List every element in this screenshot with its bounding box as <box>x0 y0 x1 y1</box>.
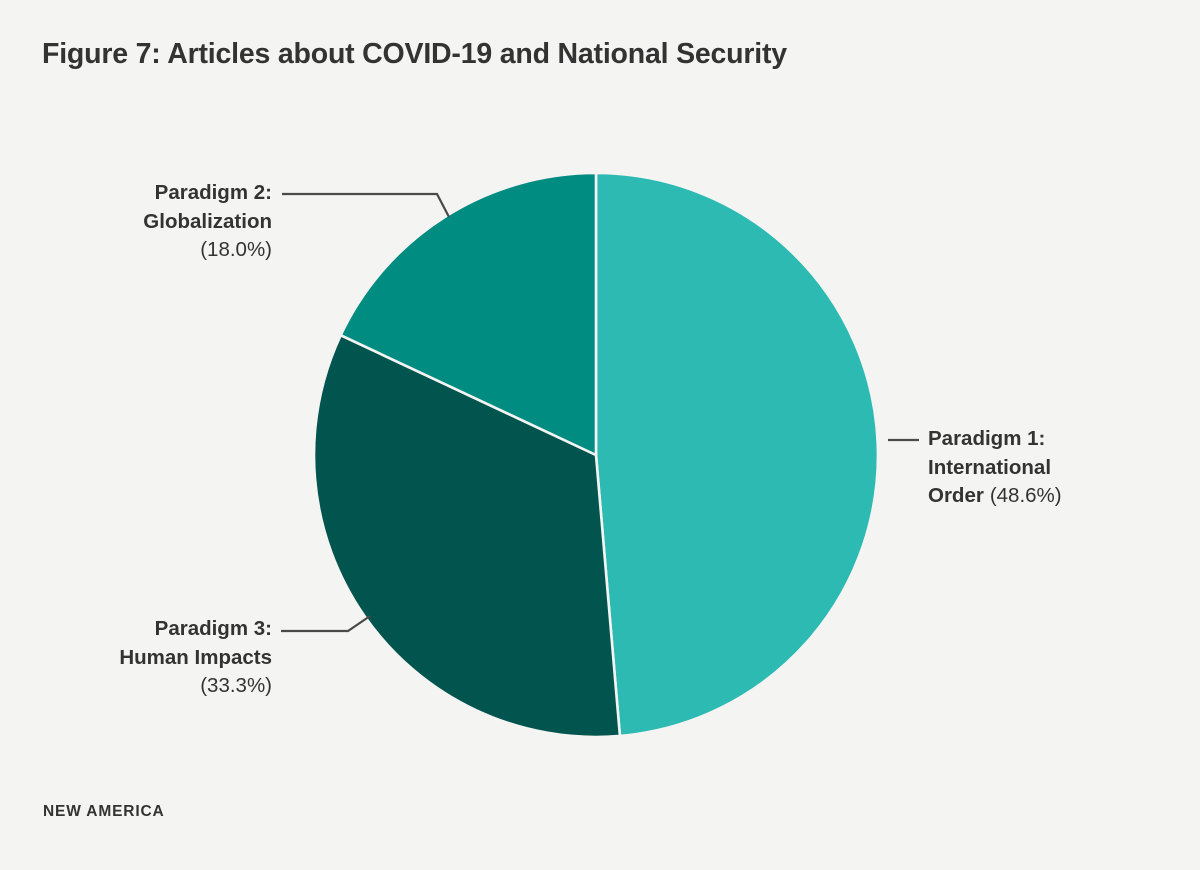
pie-slice-paradigm-1[interactable] <box>596 173 878 736</box>
pie-label-paradigm-1: Paradigm 1: International Order(48.6%) <box>928 425 1128 511</box>
leader-line-paradigm-3 <box>281 616 370 631</box>
pie-label-paradigm-3: Paradigm 3: Human Impacts (33.3%) <box>42 615 272 701</box>
footer-brand: NEW AMERICA <box>43 803 165 821</box>
pie-label-paradigm-2: Paradigm 2: Globalization (18.0%) <box>60 179 272 265</box>
leader-line-paradigm-2 <box>282 194 449 217</box>
figure-container: Figure 7: Articles about COVID-19 and Na… <box>0 0 1200 870</box>
pie-label-paradigm-3-line1: Paradigm 3: <box>42 615 272 644</box>
pie-label-paradigm-3-percent: (33.3%) <box>42 672 272 701</box>
pie-label-paradigm-1-line1: Paradigm 1: <box>928 425 1128 454</box>
pie-label-paradigm-3-line2: Human Impacts <box>42 644 272 673</box>
pie-label-paradigm-2-line1: Paradigm 2: <box>60 179 272 208</box>
pie-label-paradigm-2-line2: Globalization <box>60 208 272 237</box>
pie-label-paradigm-1-percent: (48.6%) <box>990 484 1062 507</box>
pie-label-paradigm-1-line2: International <box>928 454 1128 483</box>
pie-label-paradigm-1-name3: Order <box>928 484 984 507</box>
pie-label-paradigm-1-line3: Order(48.6%) <box>928 482 1128 511</box>
pie-label-paradigm-2-percent: (18.0%) <box>60 236 272 265</box>
